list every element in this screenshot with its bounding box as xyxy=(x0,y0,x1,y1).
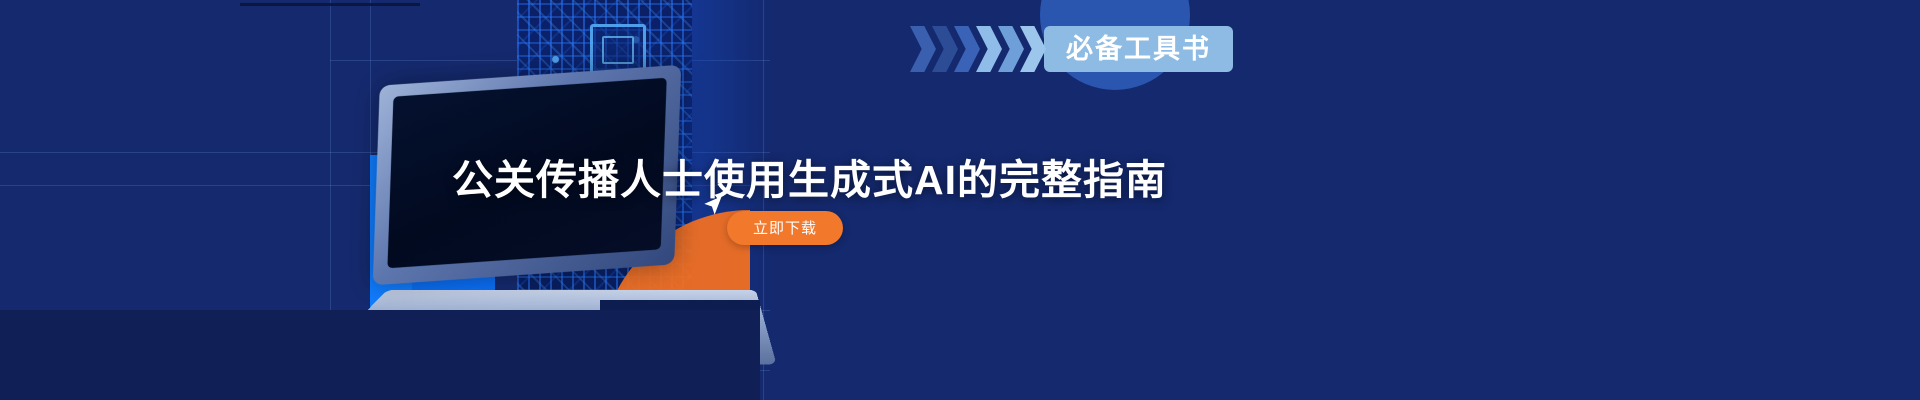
badge-label: 必备工具书 xyxy=(1066,36,1211,63)
lower-dark-band xyxy=(0,310,760,400)
badge-pill: 必备工具书 xyxy=(1044,26,1233,72)
download-button[interactable]: 立即下载 xyxy=(727,211,843,245)
chevron-right-icon xyxy=(910,26,936,72)
page-title: 公关传播人士使用生成式AI的完整指南 xyxy=(452,146,1167,206)
grid-line-horizontal xyxy=(240,3,420,6)
cursor-arrow-icon xyxy=(700,193,726,219)
promo-banner: 必备工具书 公关传播人士使用生成式AI的完整指南 立即下载 xyxy=(0,0,1920,400)
chevron-group xyxy=(910,26,1042,72)
download-button-label: 立即下载 xyxy=(753,221,817,236)
badge: 必备工具书 xyxy=(910,26,1233,72)
